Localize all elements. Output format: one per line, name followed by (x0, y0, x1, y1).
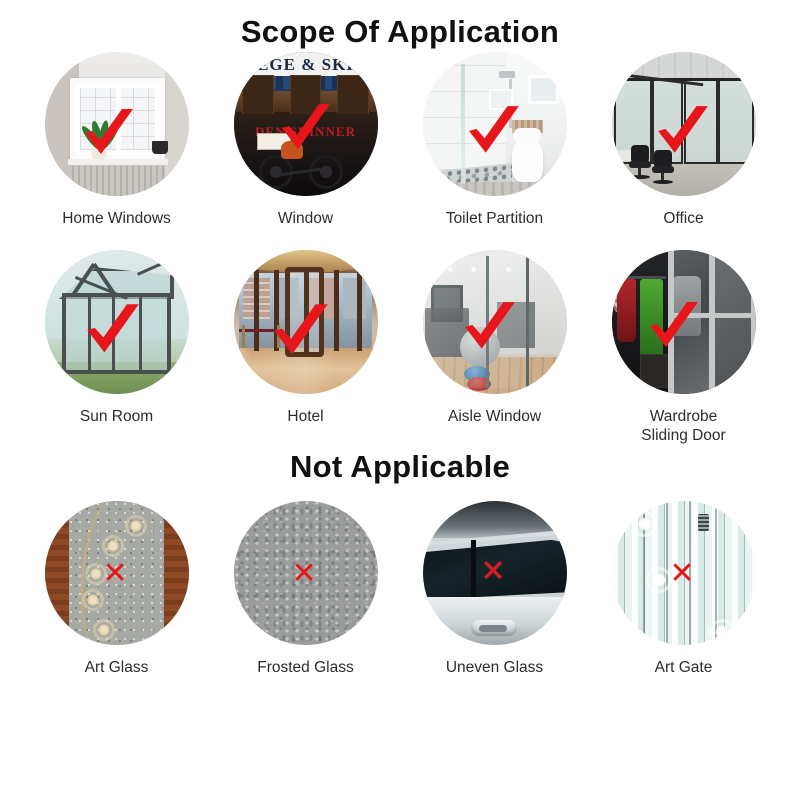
vertical-stripe (689, 501, 691, 645)
application-item-window: EGE & SKI DEN SKINNER (211, 52, 400, 228)
item-label: Toilet Partition (446, 209, 543, 228)
decorative-flower (85, 592, 101, 608)
application-row-2: Sun Room (0, 250, 800, 445)
scene-art-gate (612, 501, 756, 645)
bathroom-floor (423, 182, 567, 196)
chair-base (653, 180, 673, 184)
scene-shop-window: EGE & SKI DEN SKINNER (234, 52, 378, 196)
glass-panel (489, 253, 529, 388)
wall-right (165, 52, 188, 196)
item-label: Hotel (287, 407, 323, 426)
infographic-page: Scope Of Application (0, 0, 800, 800)
potted-plant (81, 110, 118, 162)
door-mullion (357, 270, 362, 351)
application-row-1: Home Windows EGE & SKI DEN SKINNER (0, 52, 800, 228)
door-frame (668, 250, 674, 394)
shower-niche (489, 89, 513, 109)
door-crossbar (669, 313, 755, 318)
item-label: Art Gate (655, 658, 713, 677)
scene-car-window (423, 501, 567, 645)
scene-art-glass (45, 501, 189, 645)
scene-frosted-glass (234, 501, 378, 645)
thumbnail-uneven-glass: ✕ (423, 501, 567, 645)
item-label: Art Glass (85, 658, 149, 677)
storefront-red-text: DEN SKINNER (234, 124, 378, 140)
thumbnail-frosted-glass: ✕ (234, 501, 378, 645)
office-chair (652, 150, 674, 184)
not-applicable-item-art-gate: ✕ Art Gate (589, 501, 778, 677)
toilet-fixture (512, 138, 544, 181)
office-chair (629, 145, 651, 179)
cup-object (152, 141, 168, 154)
application-item-hotel: Hotel (211, 250, 400, 445)
frame-mullion (112, 297, 115, 370)
thumbnail-hotel (234, 250, 378, 394)
decorative-flower (88, 566, 104, 582)
frame-mullion (88, 297, 91, 370)
thumbnail-aisle-window (423, 250, 567, 394)
door-frame (709, 250, 715, 394)
radiator (72, 166, 164, 196)
frame-mullion (139, 297, 142, 370)
glass-panel (684, 78, 719, 164)
thumbnail-toilet-partition (423, 52, 567, 196)
glass-partition (461, 64, 465, 185)
item-label: Window (278, 209, 333, 228)
storefront-sign-text: EGE & SKI (234, 55, 378, 75)
car-window-glass (423, 540, 567, 598)
application-item-wardrobe-sliding-door: Wardrobe Sliding Door (589, 250, 778, 445)
bike-wheel (309, 155, 343, 189)
application-item-toilet-partition: Toilet Partition (400, 52, 589, 228)
scene-office-partition (612, 52, 756, 196)
item-label: Sun Room (80, 407, 153, 426)
car-pillar (471, 540, 476, 598)
item-label: Wardrobe Sliding Door (641, 407, 725, 445)
scene-gym-aisle-window (423, 250, 567, 394)
reflected-garment (672, 276, 701, 336)
stanchion-post (277, 325, 280, 348)
window-pane-right (118, 88, 156, 150)
application-item-sun-room: Sun Room (22, 250, 211, 445)
bathroom-window (528, 75, 560, 104)
wood-frame-left (45, 501, 69, 645)
application-item-aisle-window: Aisle Window (400, 250, 589, 445)
scene-home-window (45, 52, 189, 196)
wood-frame-right (164, 501, 188, 645)
not-applicable-item-art-glass: ✕ Art Glass (22, 501, 211, 677)
bike-seat (281, 141, 303, 159)
item-label: Office (663, 209, 703, 228)
scene-toilet-partition (423, 52, 567, 196)
door-mullion (334, 270, 339, 351)
decorative-flower (712, 622, 732, 642)
not-applicable-item-frosted-glass: ✕ Frosted Glass (211, 501, 400, 677)
bicycle (259, 143, 343, 189)
scene-wardrobe-sliding-door (612, 250, 756, 394)
page-title-scope-of-application: Scope Of Application (0, 0, 800, 52)
stanchion-post (242, 325, 245, 348)
sliding-door-panel (712, 250, 755, 394)
glass-panel (423, 256, 489, 388)
conservatory-body (62, 293, 171, 374)
thumbnail-art-glass: ✕ (45, 501, 189, 645)
item-label: Home Windows (62, 209, 171, 228)
window-sill (68, 159, 169, 165)
door-mullion (254, 270, 259, 351)
application-item-home-windows: Home Windows (22, 52, 211, 228)
application-item-office: Office (589, 52, 778, 228)
scene-sun-room (45, 250, 189, 394)
hanging-garment (617, 279, 636, 342)
gate-lock (698, 514, 709, 531)
chair-post (661, 172, 664, 180)
item-label: Uneven Glass (446, 658, 543, 677)
door-handle (471, 620, 517, 636)
shower-head (499, 71, 515, 78)
thumbnail-home-windows (45, 52, 189, 196)
decorative-flower (635, 514, 655, 534)
thumbnail-sun-room (45, 250, 189, 394)
revolving-door (285, 267, 324, 356)
door-frame (751, 250, 755, 394)
thumbnail-art-gate: ✕ (612, 501, 756, 645)
not-applicable-item-uneven-glass: ✕ Uneven Glass (400, 501, 589, 677)
page-title-not-applicable: Not Applicable (0, 445, 800, 487)
building (343, 278, 367, 320)
scene-hotel-lobby (234, 250, 378, 394)
not-applicable-row-1: ✕ Art Glass ✕ Frosted Glass (0, 501, 800, 677)
decorative-flower (649, 570, 669, 590)
thumbnail-office (612, 52, 756, 196)
chair-post (638, 167, 641, 175)
item-label: Aisle Window (448, 407, 541, 426)
item-label: Frosted Glass (257, 658, 353, 677)
thumbnail-wardrobe (612, 250, 756, 394)
chair-base (630, 175, 650, 179)
thumbnail-window: EGE & SKI DEN SKINNER (234, 52, 378, 196)
glass-panel (718, 78, 754, 164)
